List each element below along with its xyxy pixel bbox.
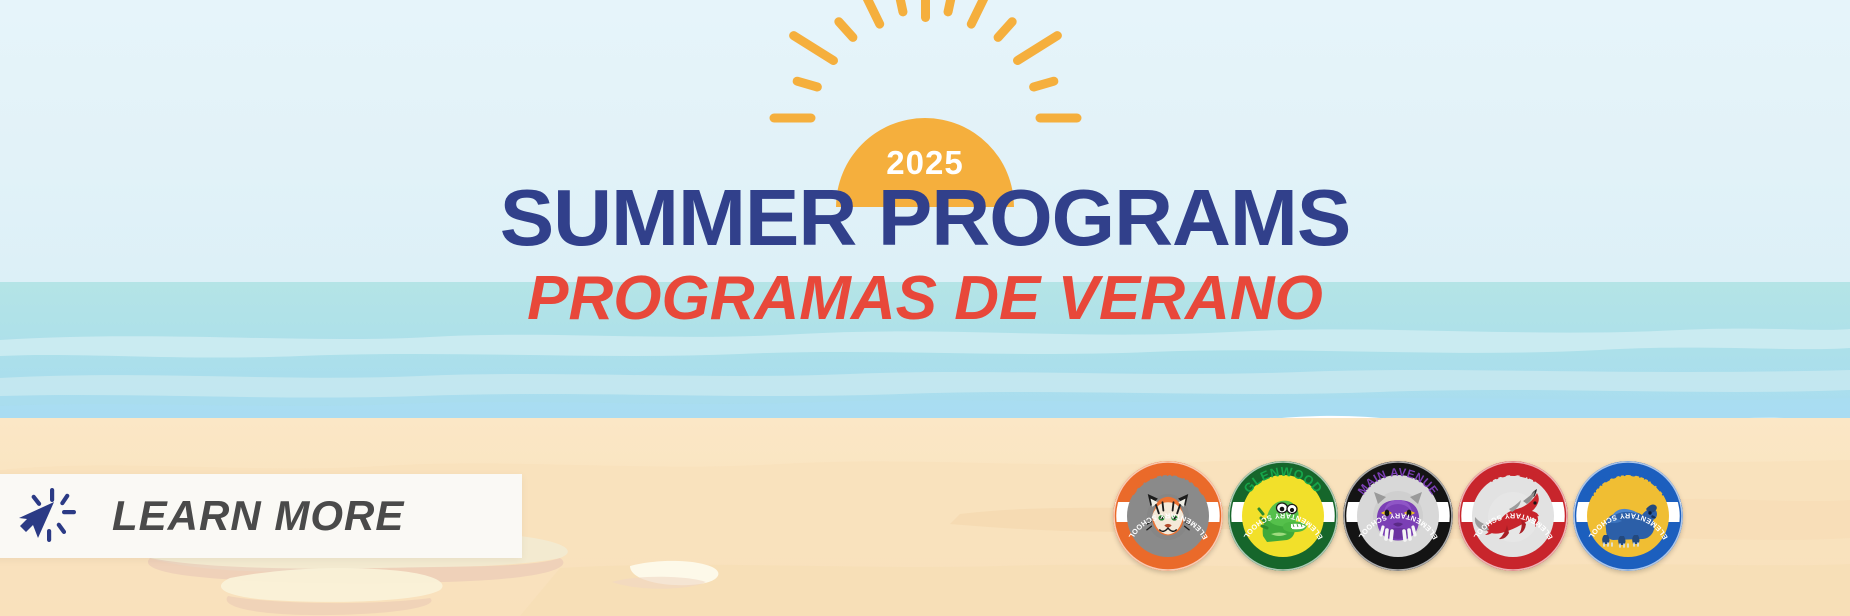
sun-ray-6: [921, 0, 930, 22]
sun-ray-0: [769, 114, 815, 123]
school-logo-alligator[interactable]: GLENWOOD ELEMENTARY SCHOOL: [1228, 461, 1338, 571]
learn-more-label: LEARN MORE: [112, 492, 404, 540]
school-logos-row: BELL AVENUE ELEMENTARY SCHOOL: [1113, 461, 1683, 571]
page-subtitle: PROGRAMAS DE VERANO: [0, 260, 1850, 338]
headline-block: SUMMER PROGRAMS PROGRAMAS DE VERANO: [0, 176, 1850, 338]
school-logo-bear[interactable]: TAYLOR STREET ELEMENTARY SCHOOL: [1573, 461, 1683, 571]
school-logo-horse[interactable]: ROBLA ELEMENTARY SCHOOL: [1458, 461, 1568, 571]
learn-more-button[interactable]: LEARN MORE: [0, 474, 522, 558]
sun-ray-1: [791, 76, 822, 93]
sun-ray-11: [1028, 76, 1059, 93]
click-cursor-icon: [16, 486, 78, 546]
sun-ray-10: [1011, 29, 1063, 66]
school-logo-panther[interactable]: MAIN AVENUE ELEMENTARY SCHOOL: [1343, 461, 1453, 571]
sun-ray-2: [787, 29, 839, 66]
sun-ray-12: [1035, 114, 1081, 123]
summer-programs-banner: 2025 SUMMER PROGRAMS PROGRAMAS DE VERANO…: [0, 0, 1850, 616]
sun-ray-3: [832, 15, 859, 43]
school-logo-tiger[interactable]: BELL AVENUE ELEMENTARY SCHOOL: [1113, 461, 1223, 571]
sun-ray-9: [991, 15, 1018, 43]
page-title: SUMMER PROGRAMS: [0, 176, 1850, 260]
